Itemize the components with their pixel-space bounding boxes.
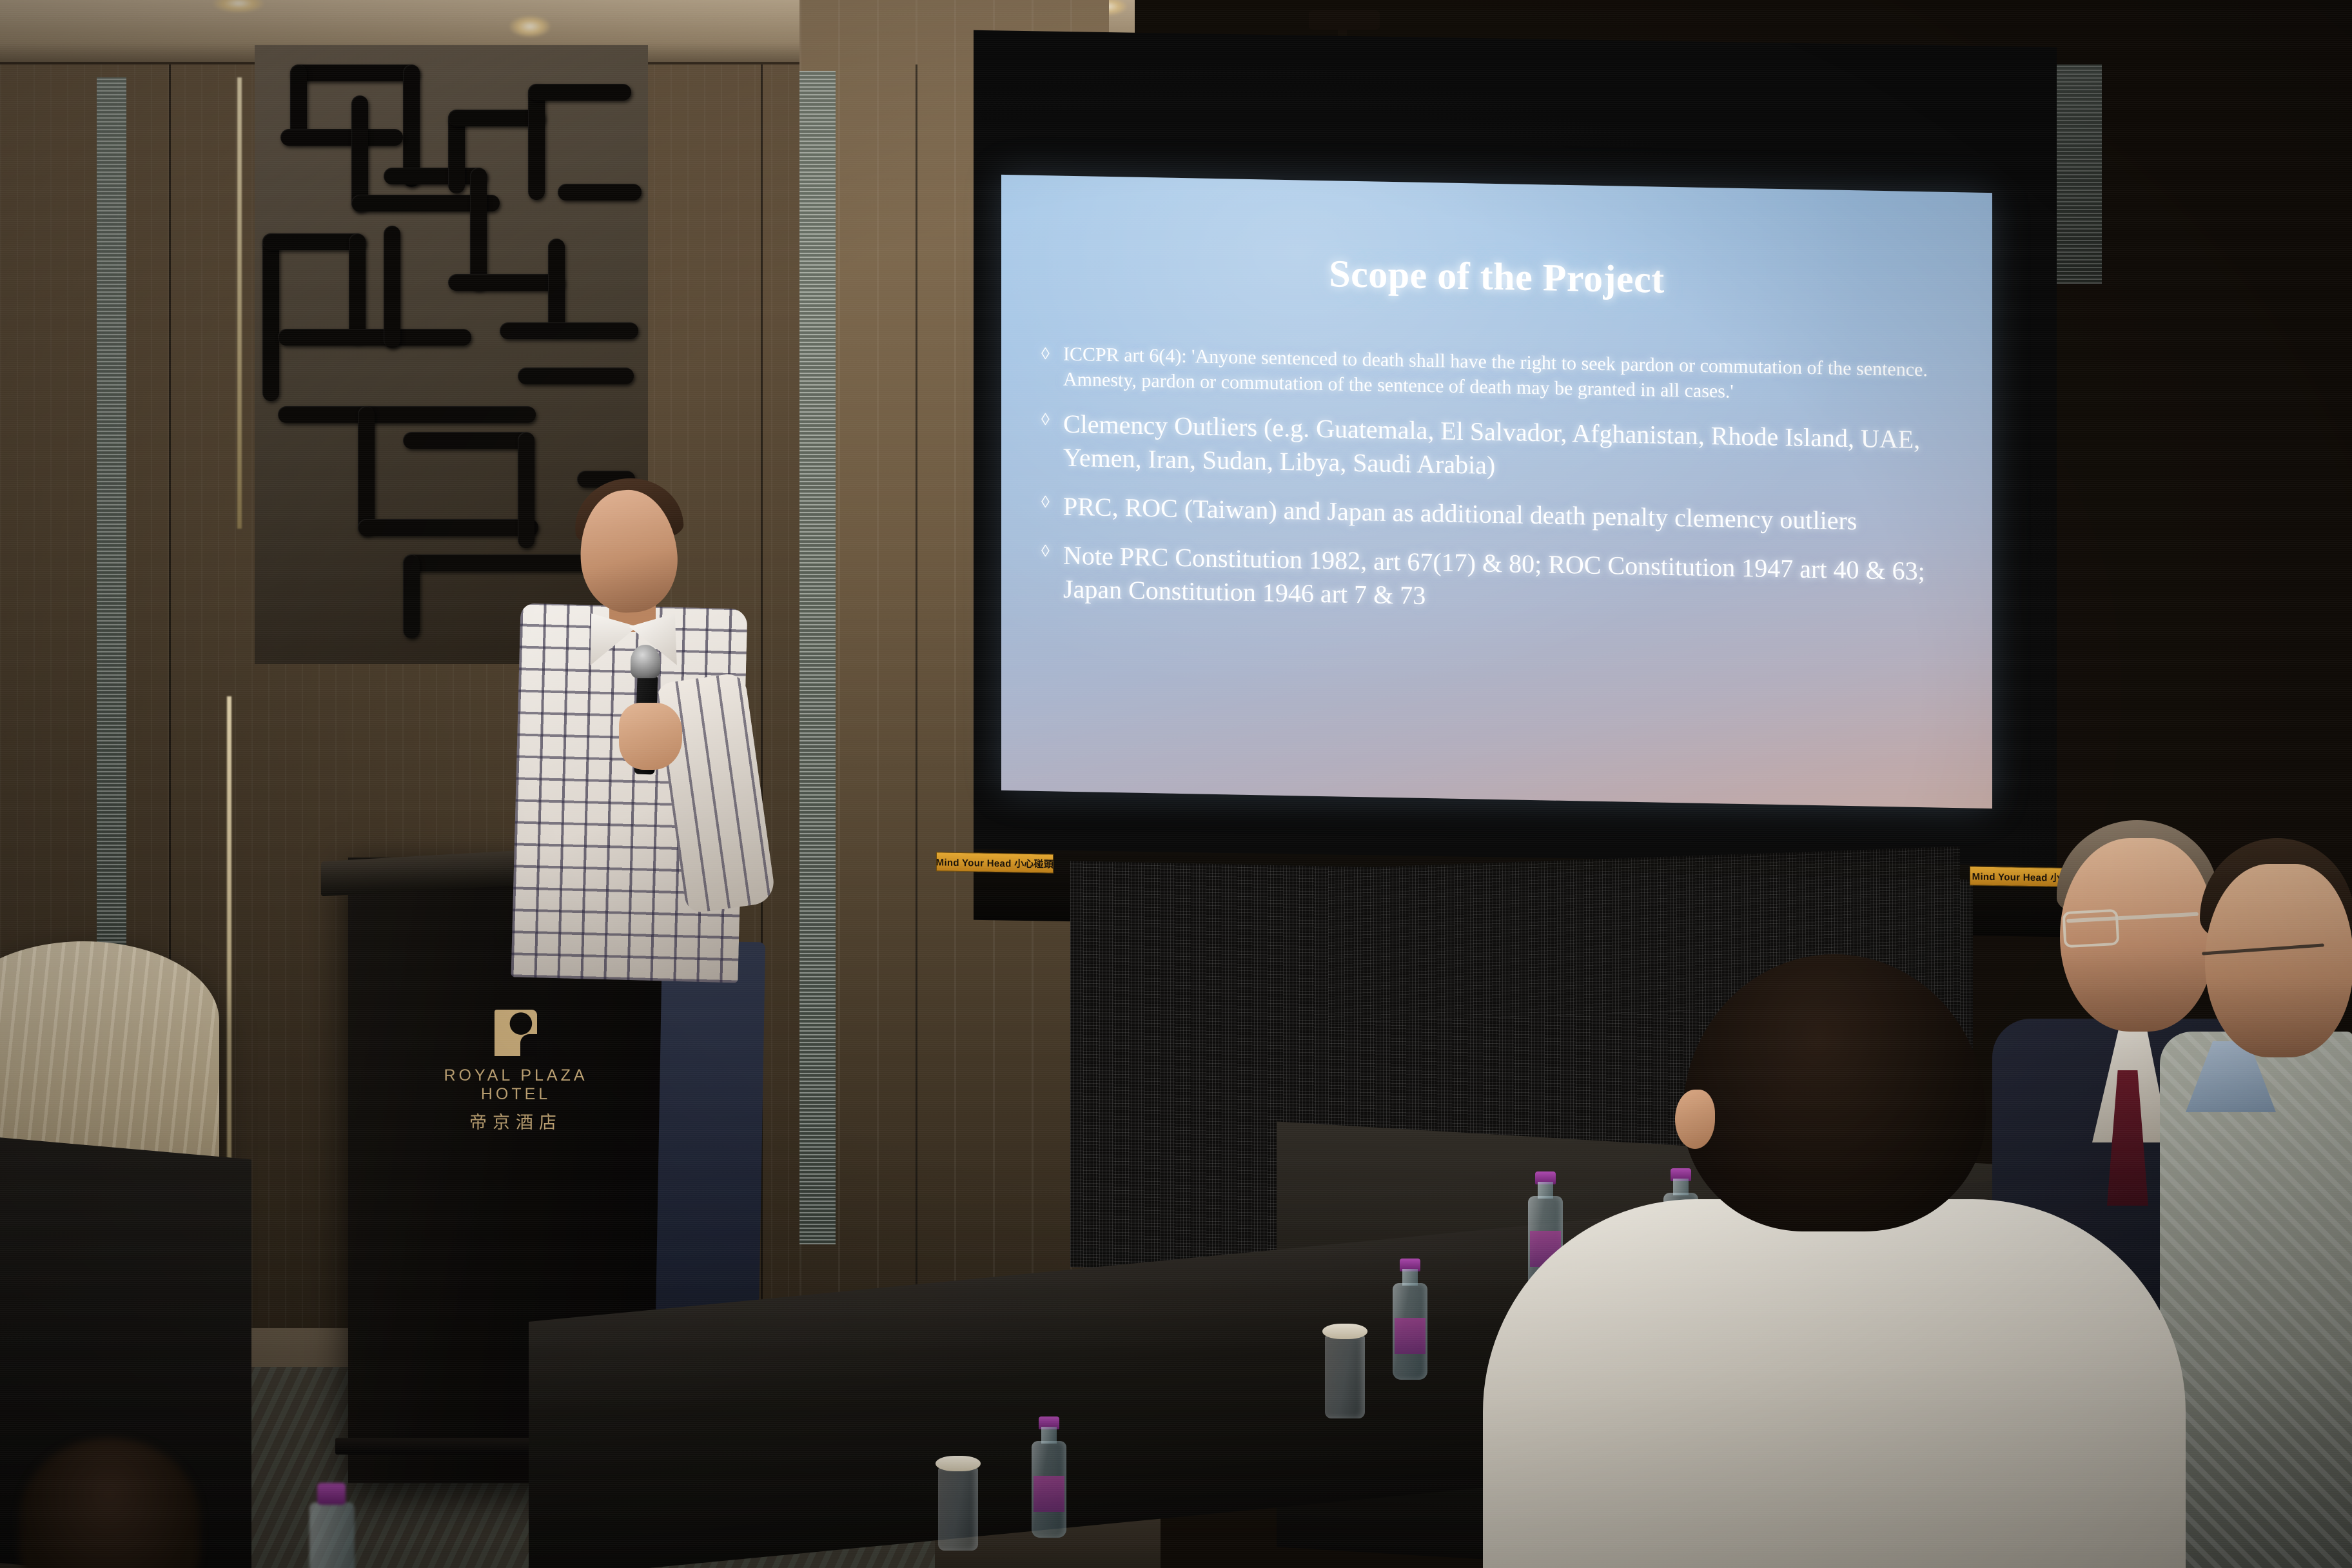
bottle-label <box>1034 1476 1064 1512</box>
speaker-hand <box>619 703 682 770</box>
maze-bar <box>528 84 545 200</box>
slide-bullet-item: ◊ ICCPR art 6(4): 'Anyone sentenced to d… <box>1041 341 1952 408</box>
slide-bullet-list: ◊ ICCPR art 6(4): 'Anyone sentenced to d… <box>1041 341 1952 622</box>
maze-bar <box>358 406 375 535</box>
bottle-label <box>1395 1318 1426 1354</box>
bottle-body <box>1032 1441 1066 1538</box>
diamond-bullet-icon: ◊ <box>1041 489 1063 524</box>
decorative-glass-strip <box>799 71 836 1244</box>
maze-bar <box>351 95 368 211</box>
maze-bar <box>518 432 534 548</box>
water-bottle <box>309 1502 355 1568</box>
slide-title: Scope of the Project <box>1041 246 1952 308</box>
maze-bar <box>518 367 634 384</box>
glass-cover-lid <box>936 1456 981 1471</box>
diamond-bullet-icon: ◊ <box>1041 341 1063 392</box>
maze-bar <box>262 233 279 401</box>
maze-bar <box>558 184 642 201</box>
diamond-bullet-icon: ◊ <box>1041 407 1063 475</box>
hotel-name-en: ROYAL PLAZA HOTEL <box>432 1066 600 1104</box>
bottle-body <box>1393 1283 1427 1380</box>
audience-head <box>2205 864 2352 1057</box>
wall-panel-seam <box>916 64 917 1328</box>
mind-your-head-sign: Mind Your Head 小心碰頭 <box>936 852 1053 873</box>
eyeglasses-icon <box>2063 909 2120 948</box>
decorative-glass-strip <box>97 77 126 1032</box>
slide-bullet-text: Clemency Outliers (e.g. Guatemala, El Sa… <box>1063 407 1952 491</box>
maze-bar <box>500 322 638 339</box>
slide-bullet-item: ◊ Clemency Outliers (e.g. Guatemala, El … <box>1041 407 1952 491</box>
bottle-cap <box>317 1483 346 1505</box>
conference-room-scene: Scope of the Project ◊ ICCPR art 6(4): '… <box>0 0 2352 1568</box>
royal-plaza-r-logo-icon <box>495 1010 537 1056</box>
slide-bullet-text: PRC, ROC (Taiwan) and Japan as additiona… <box>1063 490 1952 540</box>
maze-bar <box>384 226 400 348</box>
maze-bar <box>403 554 603 571</box>
maze-bar <box>403 554 420 638</box>
slide-bullet-item: ◊ PRC, ROC (Taiwan) and Japan as additio… <box>1041 489 1952 540</box>
maze-bar <box>470 168 487 290</box>
ceiling-downlight <box>509 15 551 37</box>
maze-bar <box>278 406 536 423</box>
projection-screen-surface: Scope of the Project ◊ ICCPR art 6(4): '… <box>1001 175 1992 808</box>
slide-bullet-text: Note PRC Constitution 1982, art 67(17) &… <box>1063 539 1952 622</box>
maze-bar <box>280 129 403 146</box>
hotel-name-zh: 帝京酒店 <box>432 1108 600 1133</box>
foreground-ear <box>1675 1090 1715 1149</box>
hotel-logo-block: ROYAL PLAZA HOTEL 帝京酒店 <box>432 1010 600 1133</box>
maze-bar <box>290 64 419 81</box>
maze-bar <box>548 239 565 335</box>
maze-bar <box>448 274 564 291</box>
wall-light-strip <box>237 77 242 529</box>
decorative-glass-strip <box>2050 64 2102 284</box>
slide-bullet-item: ◊ Note PRC Constitution 1982, art 67(17)… <box>1041 538 1952 622</box>
projector-mount-plate <box>1309 10 1380 30</box>
water-glass <box>1325 1335 1365 1418</box>
maze-bar <box>349 233 366 343</box>
diamond-bullet-icon: ◊ <box>1041 538 1063 606</box>
maze-bar <box>278 329 471 346</box>
slide-bullet-text: ICCPR art 6(4): 'Anyone sentenced to dea… <box>1063 342 1952 408</box>
presentation-slide: Scope of the Project ◊ ICCPR art 6(4): '… <box>1001 175 1992 808</box>
maze-bar <box>358 519 538 536</box>
maze-bar <box>403 432 532 449</box>
microphone-head-icon <box>631 645 660 678</box>
maze-bar <box>528 84 631 101</box>
water-glass <box>938 1467 978 1551</box>
glass-cover-lid <box>1322 1324 1367 1339</box>
foreground-white-shirt <box>1483 1199 2186 1568</box>
